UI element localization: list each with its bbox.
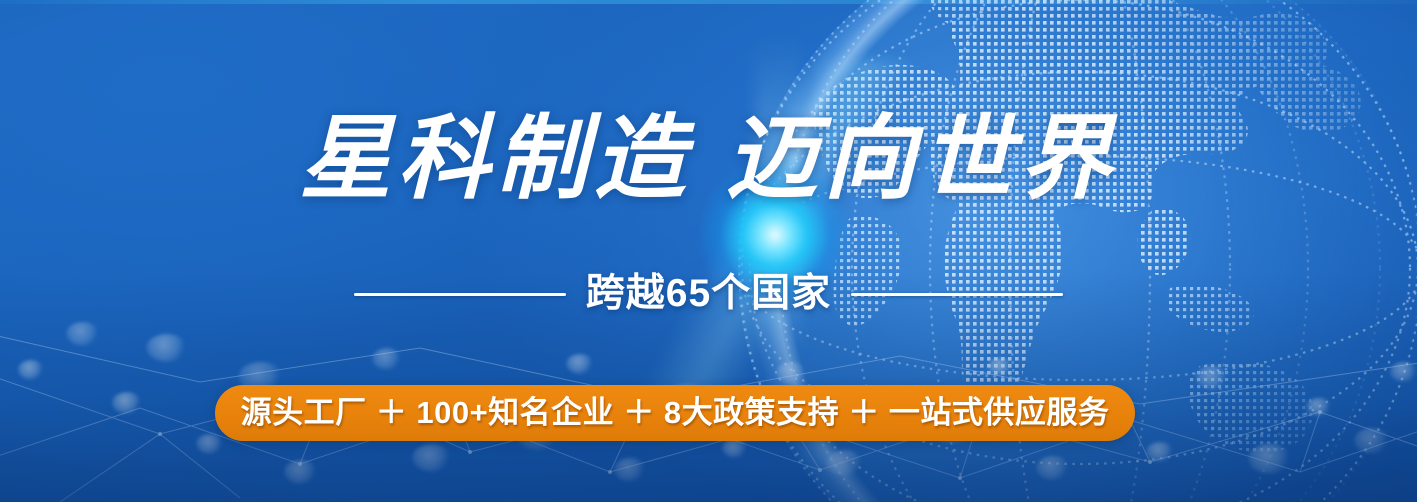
feature-pill-button[interactable]: 源头工厂 ＋ 100+知名企业 ＋ 8大政策支持 ＋ 一站式供应服务 <box>215 385 1135 441</box>
divider-line-left <box>354 293 566 296</box>
feature-pill-label: 源头工厂 ＋ 100+知名企业 ＋ 8大政策支持 ＋ 一站式供应服务 <box>241 393 1110 433</box>
divider-line-right <box>851 293 1063 296</box>
headline: 星科制造迈向世界 <box>0 102 1417 214</box>
headline-part1: 星科制造 <box>299 104 691 212</box>
subtitle-text: 跨越65个国家 <box>586 268 831 320</box>
promo-banner: 星科制造迈向世界 跨越65个国家 源头工厂 ＋ 100+知名企业 ＋ 8大政策支… <box>0 0 1417 502</box>
headline-part2: 迈向世界 <box>726 104 1118 212</box>
banner-content: 星科制造迈向世界 跨越65个国家 源头工厂 ＋ 100+知名企业 ＋ 8大政策支… <box>0 0 1417 502</box>
subtitle-row: 跨越65个国家 <box>0 268 1417 320</box>
